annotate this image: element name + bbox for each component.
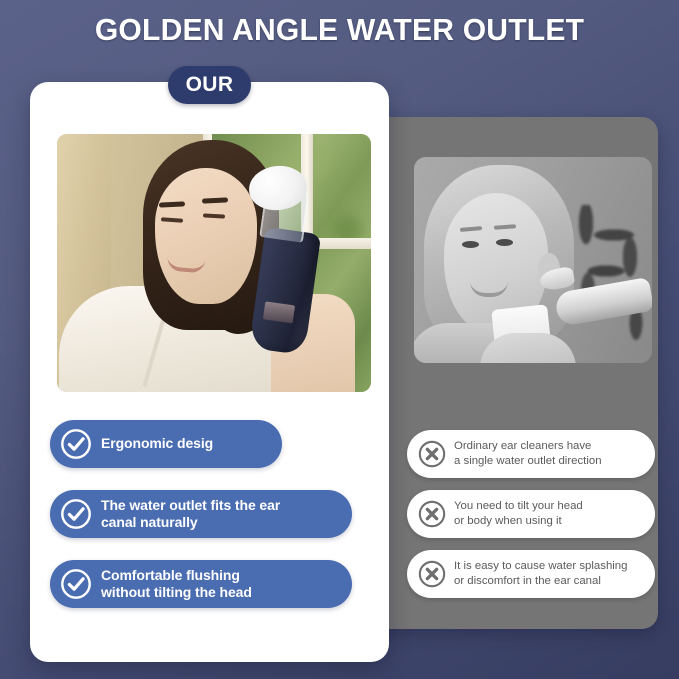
- list-item-label: You need to tilt your head or body when …: [454, 499, 583, 529]
- cons-photo-eye-right: [496, 239, 513, 246]
- check-circle-icon: [59, 427, 93, 461]
- cons-list: Ordinary ear cleaners have a single wate…: [407, 430, 655, 610]
- check-circle-icon: [59, 567, 93, 601]
- page-title: GOLDEN ANGLE WATER OUTLET: [10, 12, 669, 48]
- list-item-label: Ergonomic desig: [101, 435, 213, 453]
- pros-photo: [57, 134, 371, 392]
- list-item: Ergonomic desig: [50, 420, 282, 468]
- list-item-label: Comfortable flushing without tilting the…: [101, 567, 252, 602]
- list-item: Ordinary ear cleaners have a single wate…: [407, 430, 655, 478]
- list-item: You need to tilt your head or body when …: [407, 490, 655, 538]
- cons-photo: [414, 157, 652, 363]
- our-badge: OUR: [168, 66, 251, 104]
- list-item-label: It is easy to cause water splashing or d…: [454, 559, 627, 589]
- list-item-label: The water outlet fits the ear canal natu…: [101, 497, 280, 532]
- cons-photo-eye-left: [462, 241, 479, 248]
- check-circle-icon: [59, 497, 93, 531]
- pros-photo-face: [155, 168, 257, 304]
- list-item: Comfortable flushing without tilting the…: [50, 560, 352, 608]
- list-item-label: Ordinary ear cleaners have a single wate…: [454, 439, 602, 469]
- x-circle-icon: [417, 559, 447, 589]
- pros-list: Ergonomic desig The water outlet fits th…: [50, 420, 360, 630]
- list-item: It is easy to cause water splashing or d…: [407, 550, 655, 598]
- x-circle-icon: [417, 439, 447, 469]
- list-item: The water outlet fits the ear canal natu…: [50, 490, 352, 538]
- product-bottle-label: [263, 301, 295, 323]
- x-circle-icon: [417, 499, 447, 529]
